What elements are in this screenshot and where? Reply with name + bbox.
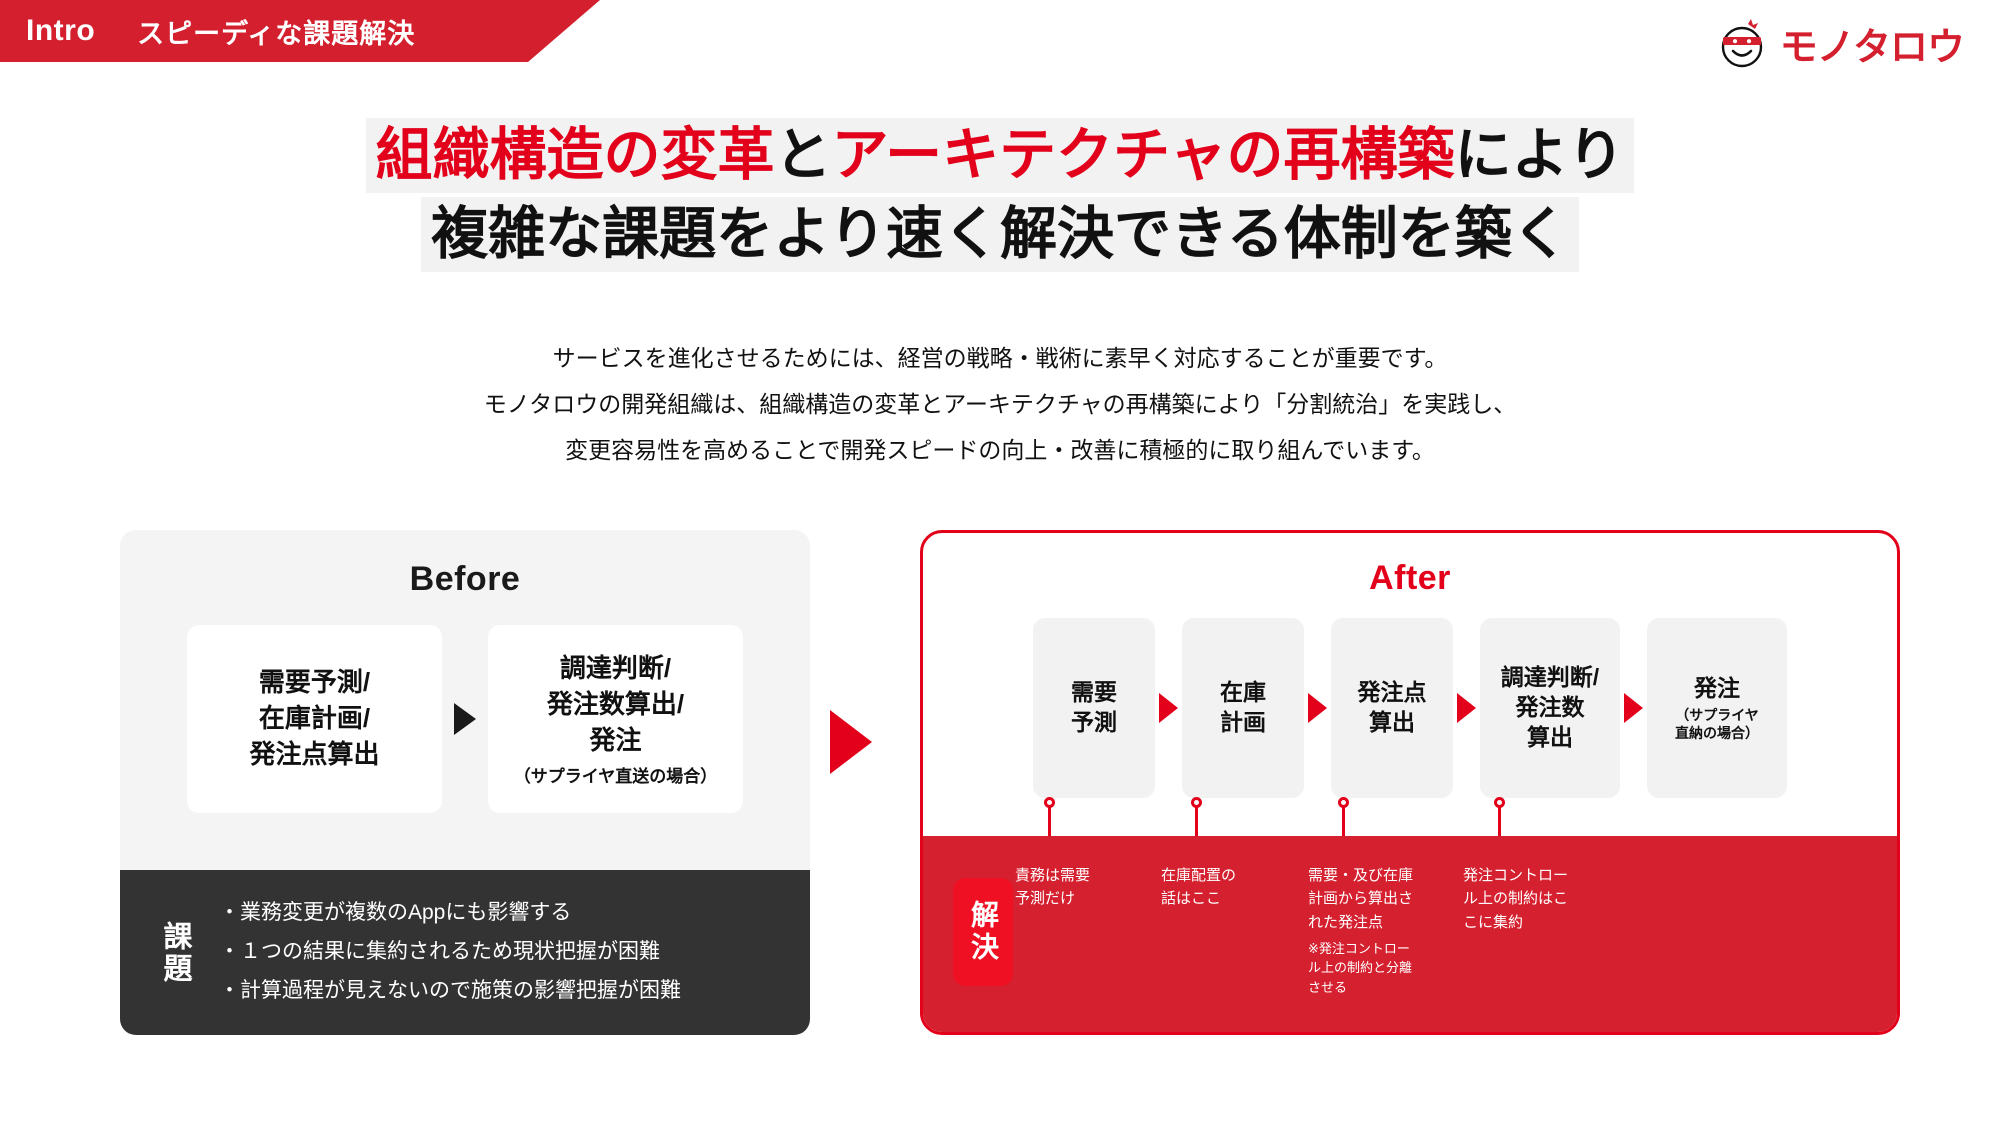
header-section-label: スピーディな課題解決 [137, 12, 415, 51]
black-triangle-right-icon [454, 703, 476, 735]
after-card-1: 需要予測 [1033, 618, 1155, 798]
annotation-3: 需要・及び在庫計画から算出された発注点 ※発注コントロール上の制約と分離させる [1308, 864, 1413, 997]
before-heading: Before [120, 560, 810, 599]
solution-band: 解決 責務は需要予測だけ 在庫配置の話はここ 需要・及び在庫計画から算出された発… [923, 836, 1897, 1032]
title-line-2: 複雑な課題をより速く解決できる体制を築く [421, 197, 1579, 272]
title-seg-1: 組織構造の変革 [376, 123, 775, 187]
after-card-2-title: 在庫計画 [1220, 678, 1266, 738]
header-intro-label: Intro [26, 14, 95, 48]
title-seg-3: アーキテクチャの再構築 [832, 123, 1455, 187]
annotation-1-text: 責務は需要予測だけ [1015, 867, 1090, 907]
annotation-2: 在庫配置の話はここ [1161, 864, 1266, 911]
annotation-4-text: 発注コントロール上の制約はここに集約 [1463, 867, 1568, 931]
annotation-3-note: ※発注コントロール上の制約と分離させる [1308, 939, 1413, 998]
after-card-1-title: 需要予測 [1071, 678, 1117, 738]
issue-label: 課題 [160, 921, 189, 985]
before-flow: 需要予測/在庫計画/発注点算出 調達判断/発注数算出/発注 （サプライヤ直送の場… [120, 625, 810, 813]
brand-logo-text: モノタロウ [1780, 16, 1964, 71]
issue-band: 課題 ・業務変更が複数のAppにも影響する ・１つの結果に集約されるため現状把握… [120, 870, 810, 1035]
before-card-2: 調達判断/発注数算出/発注 （サプライヤ直送の場合） [488, 625, 743, 813]
header-ribbon: Intro スピーディな課題解決 [0, 0, 600, 62]
solution-badge: 解決 [953, 878, 1013, 986]
after-panel: After 需要予測 在庫計画 発注点算出 調達判断/発注数算出 発注 （サプラ… [920, 530, 1900, 1035]
after-card-4: 調達判断/発注数算出 [1480, 618, 1620, 798]
annotation-2-text: 在庫配置の話はここ [1161, 867, 1236, 907]
before-panel: Before 需要予測/在庫計画/発注点算出 調達判断/発注数算出/発注 （サプ… [120, 530, 810, 1035]
after-card-5-title: 発注 [1694, 674, 1740, 704]
before-card-1: 需要予測/在庫計画/発注点算出 [187, 625, 442, 813]
red-triangle-right-icon [830, 710, 872, 774]
before-card-1-title: 需要予測/在庫計画/発注点算出 [249, 665, 379, 773]
after-flow: 需要予測 在庫計画 発注点算出 調達判断/発注数算出 発注 （サプライヤ直納の場… [923, 618, 1897, 798]
red-triangle-right-icon [1457, 693, 1476, 723]
issue-list: ・業務変更が複数のAppにも影響する ・１つの結果に集約されるため現状把握が困難… [219, 894, 681, 1011]
subtitle-line-1: サービスを進化させるためには、経営の戦略・戦術に素早く対応することが重要です。 [0, 335, 2000, 381]
after-heading: After [923, 559, 1897, 598]
issue-item: ・計算過程が見えないので施策の影響把握が困難 [219, 972, 681, 1011]
after-card-3-title: 発注点算出 [1358, 678, 1427, 738]
annotation-1: 責務は需要予測だけ [1015, 864, 1120, 911]
after-card-5: 発注 （サプライヤ直納の場合） [1647, 618, 1787, 798]
red-triangle-right-icon [1308, 693, 1327, 723]
after-card-2: 在庫計画 [1182, 618, 1304, 798]
before-card-2-title: 調達判断/発注数算出/発注 [547, 651, 684, 759]
monotaro-character-icon [1718, 18, 1770, 70]
annotation-3-text: 需要・及び在庫計画から算出された発注点 [1308, 867, 1413, 931]
brand-logo: モノタロウ [1718, 16, 1964, 71]
title-seg-2: と [775, 123, 832, 187]
title-line-1: 組織構造の変革とアーキテクチャの再構築により [366, 118, 1635, 193]
after-card-4-title: 調達判断/発注数算出 [1501, 663, 1599, 753]
after-card-5-sub: （サプライヤ直納の場合） [1675, 706, 1759, 742]
red-triangle-right-icon [1159, 693, 1178, 723]
title-seg-4: により [1455, 123, 1625, 187]
subtitle-block: サービスを進化させるためには、経営の戦略・戦術に素早く対応することが重要です。 … [0, 335, 2000, 473]
annotation-4: 発注コントロール上の制約はここに集約 [1463, 864, 1568, 934]
issue-item: ・業務変更が複数のAppにも影響する [219, 894, 681, 933]
subtitle-line-3: 変更容易性を高めることで開発スピードの向上・改善に積極的に取り組んでいます。 [0, 427, 2000, 473]
before-card-2-sub: （サプライヤ直送の場合） [514, 762, 718, 787]
subtitle-line-2: モノタロウの開発組織は、組織構造の変革とアーキテクチャの再構築により「分割統治」… [0, 381, 2000, 427]
issue-item: ・１つの結果に集約されるため現状把握が困難 [219, 933, 681, 972]
after-card-3: 発注点算出 [1331, 618, 1453, 798]
page-title: 組織構造の変革とアーキテクチャの再構築により 複雑な課題をより速く解決できる体制… [0, 118, 2000, 272]
red-triangle-right-icon [1624, 693, 1643, 723]
